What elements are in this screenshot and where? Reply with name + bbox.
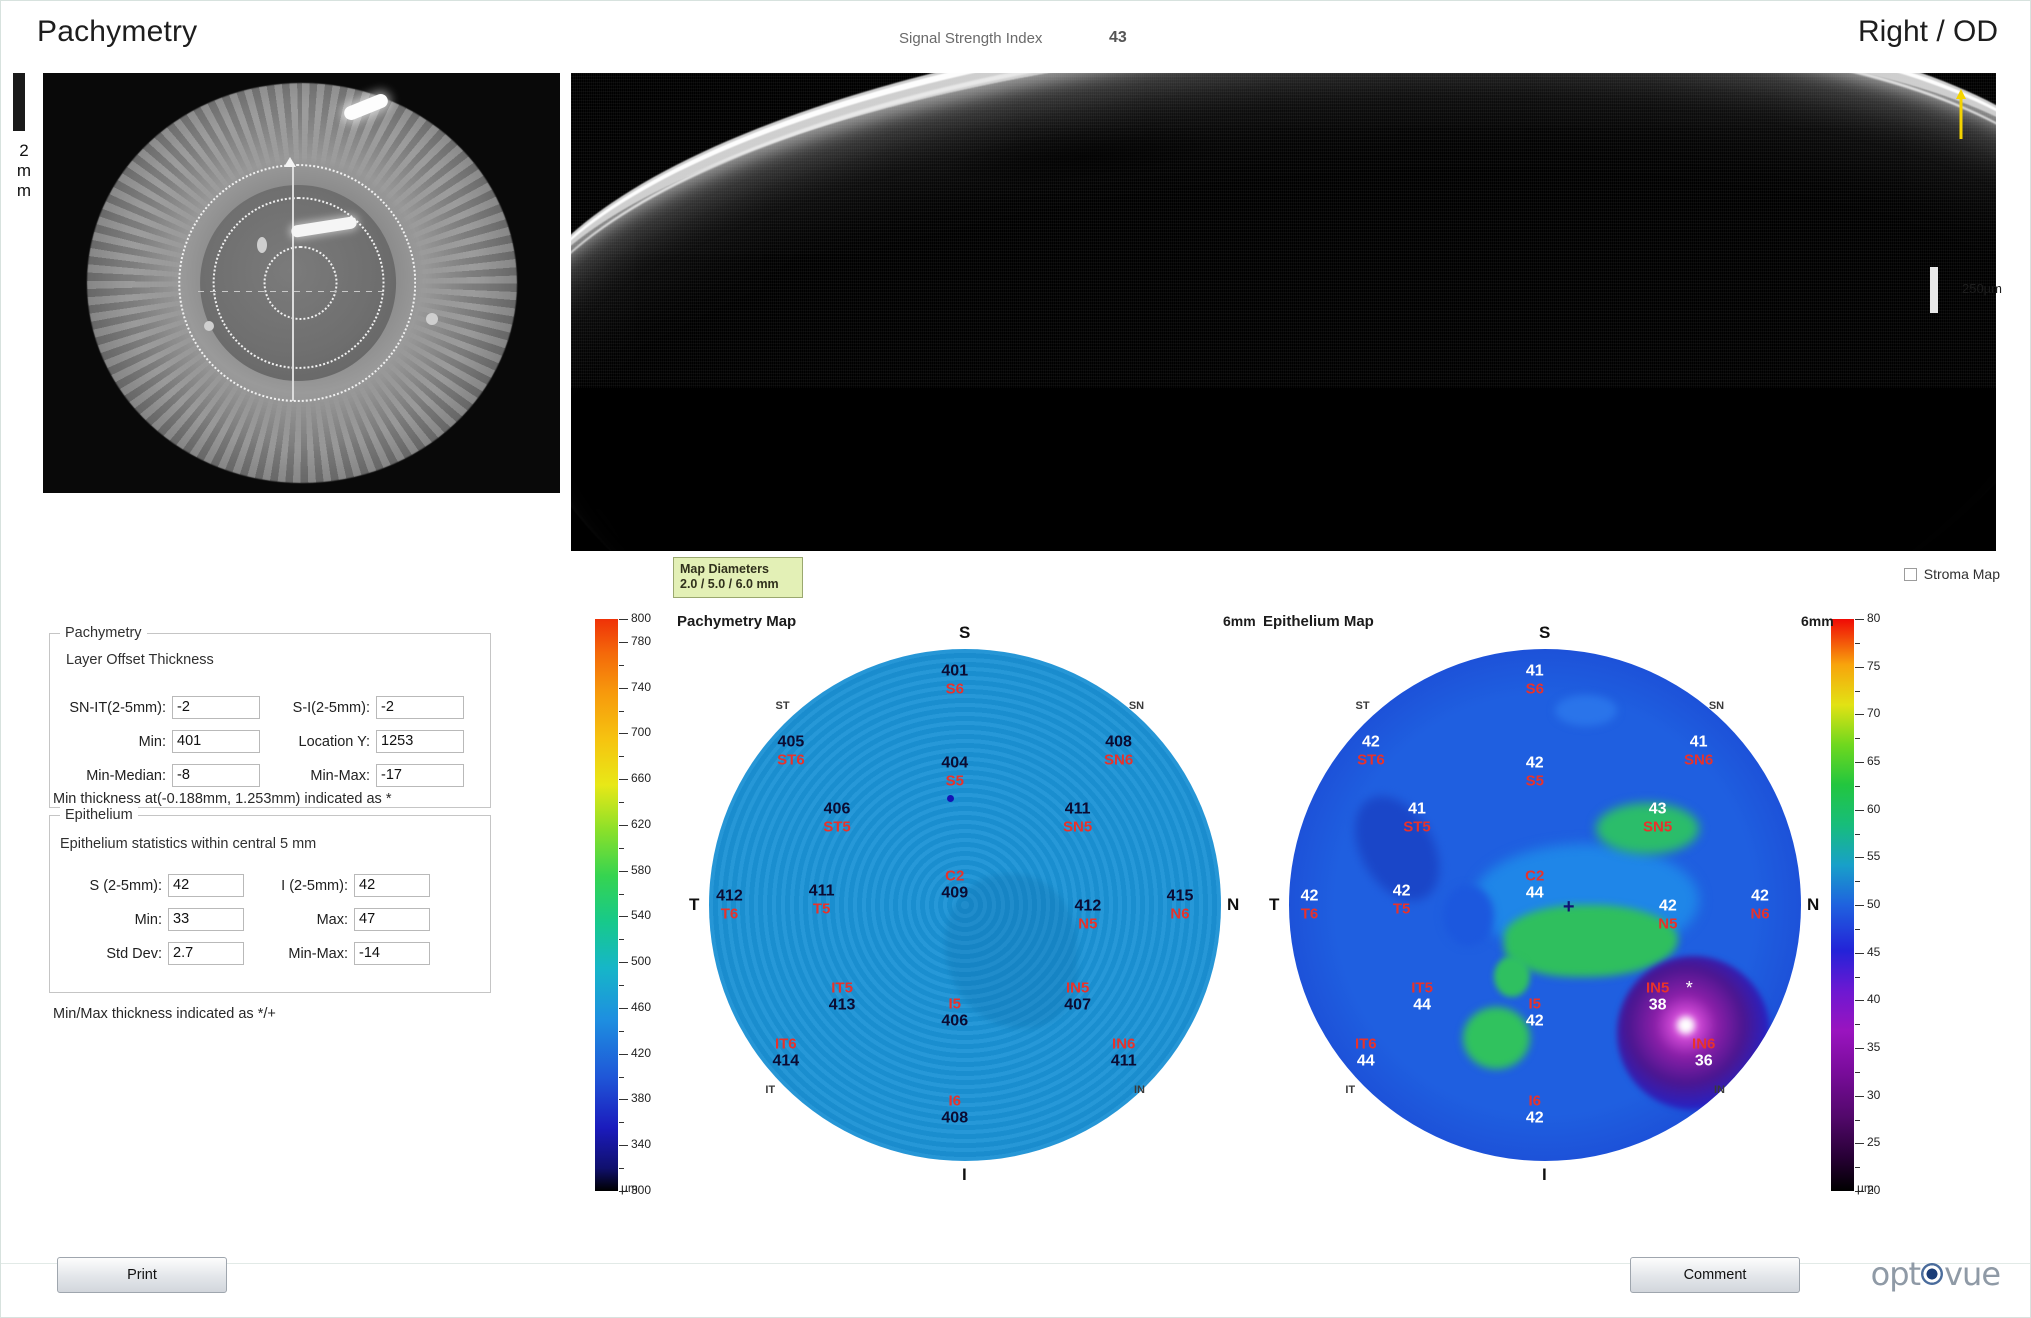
pachymetry-report-window: Pachymetry Signal Strength Index 43 Righ… (0, 0, 2031, 1318)
sector-thickness-value: 42 (1393, 882, 1411, 900)
orientation-label-st: ST (776, 700, 790, 712)
sector-value-i6: I6408 (941, 1092, 968, 1127)
orientation-label-n: N (1807, 895, 1819, 915)
pachymetry-colorbar-gradient (595, 619, 618, 1191)
epi-max-field[interactable]: 47 (354, 908, 430, 931)
colorbar-tick-label: 80 (1867, 611, 1880, 625)
sector-name-label: I6 (941, 1092, 968, 1109)
epi-min-field[interactable]: 33 (168, 908, 244, 931)
sector-name-label: IN5 (1646, 980, 1669, 997)
sector-name-label: SN5 (1643, 818, 1672, 835)
pachymetry-map[interactable]: 401S6405ST6408SN6404S5406ST5411SN5412T64… (701, 619, 1231, 1191)
pachy-min-field[interactable]: 401 (172, 730, 260, 753)
colorbar-tick-label: 700 (631, 725, 651, 739)
stroma-map-checkbox[interactable] (1904, 568, 1917, 581)
epi-patch-green-central (1504, 905, 1678, 977)
colorbar-tick-label: 30 (1867, 1088, 1880, 1102)
colorbar-tick (619, 665, 624, 666)
colorbar-tick (619, 1145, 628, 1146)
orientation-label-t: T (689, 895, 699, 915)
sector-value-n6: 415N6 (1167, 888, 1194, 923)
sector-thickness-value: 414 (772, 1053, 799, 1071)
sector-name-label: IT6 (772, 1036, 799, 1053)
sector-name-label: IN6 (1111, 1036, 1137, 1053)
sector-thickness-value: 41 (1403, 800, 1431, 818)
sector-value-t5: 42T5 (1393, 882, 1411, 917)
s-i-label: S-I(2-5mm): (278, 700, 370, 716)
colorbar-tick (619, 1054, 628, 1055)
colorbar-tick (1855, 1024, 1860, 1025)
colorbar-tick (1855, 1120, 1860, 1121)
sector-thickness-value: 43 (1643, 800, 1672, 818)
signal-strength-value: 43 (1109, 29, 1127, 47)
epithelium-colorbar-gradient (1831, 619, 1854, 1191)
sector-thickness-value: 411 (1063, 800, 1092, 818)
colorbar-tick-label: 55 (1867, 849, 1880, 863)
colorbar-tick (1855, 1072, 1860, 1073)
sector-value-sn6: 408SN6 (1104, 734, 1133, 769)
colorbar-tick (1855, 977, 1860, 978)
colorbar-tick-label: 25 (1867, 1135, 1880, 1149)
sector-value-sn5: 411SN5 (1063, 800, 1092, 835)
sector-name-label: T6 (716, 906, 743, 923)
sector-value-n6: 42N6 (1750, 888, 1769, 923)
orientation-label-n: N (1227, 895, 1239, 915)
colorbar-tick (619, 802, 624, 803)
signal-strength-label: Signal Strength Index (899, 30, 1042, 47)
sector-value-c2: C2409 (941, 867, 968, 902)
orientation-label-i: I (1542, 1165, 1547, 1185)
sector-value-it6: IT6414 (772, 1036, 799, 1071)
enface-scale-label: 2 m m (13, 141, 35, 201)
sector-thickness-value: 42 (1357, 734, 1385, 752)
sector-thickness-value: 36 (1692, 1053, 1715, 1071)
orientation-label-in: IN (1134, 1084, 1145, 1096)
pachymetry-min-marker (947, 795, 954, 802)
sector-value-in6: IN636 (1692, 1036, 1715, 1071)
orientation-label-it: IT (765, 1084, 775, 1096)
sector-thickness-value: 411 (809, 882, 835, 900)
sector-thickness-value: 42 (1750, 888, 1769, 906)
epithelium-min-marker: * (1686, 979, 1693, 997)
sector-value-it5: IT544 (1411, 980, 1433, 1015)
oct-scale-bar (1930, 267, 1938, 313)
colorbar-tick (1855, 619, 1864, 620)
comment-button[interactable]: Comment (1630, 1257, 1800, 1293)
sector-value-n5: 42N5 (1658, 898, 1677, 933)
colorbar-tick-label: 540 (631, 908, 651, 922)
sector-thickness-value: 415 (1167, 888, 1194, 906)
pachymetry-colorbar (595, 619, 618, 1191)
colorbar-tick-label: 340 (631, 1137, 651, 1151)
oct-up-arrow-icon (1954, 87, 1968, 141)
sector-value-t6: 412T6 (716, 888, 743, 923)
colorbar-tick (1855, 881, 1860, 882)
sector-thickness-value: 42 (1301, 888, 1319, 906)
epithelium-colorbar (1831, 619, 1854, 1191)
sector-name-label: C2 (1525, 867, 1544, 884)
enface-scale-bar (13, 73, 25, 131)
sector-name-label: N5 (1658, 916, 1677, 933)
colorbar-tick (1855, 643, 1860, 644)
epi-patch-green-small (1494, 956, 1530, 997)
sector-value-i5: I542 (1526, 995, 1544, 1030)
colorbar-tick (619, 619, 628, 620)
stroma-map-label: Stroma Map (1924, 566, 2000, 582)
sector-name-label: C2 (941, 867, 968, 884)
colorbar-tick (1855, 929, 1860, 930)
sector-name-label: SN6 (1104, 752, 1133, 769)
sector-thickness-value: 406 (823, 800, 851, 818)
sector-value-sn6: 41SN6 (1684, 734, 1713, 769)
epi-min-label: Min: (54, 912, 162, 928)
epithelium-panel-legend: Epithelium (60, 807, 138, 823)
sector-name-label: IN6 (1692, 1036, 1715, 1053)
colorbar-tick (619, 985, 624, 986)
oct-scale-label: 250µm (1962, 281, 2002, 296)
location-y-field[interactable]: 1253 (376, 730, 464, 753)
sector-value-i6: I642 (1526, 1092, 1544, 1127)
sector-thickness-value: 42 (1526, 1109, 1544, 1127)
sector-value-st6: 42ST6 (1357, 734, 1385, 769)
sector-value-st5: 406ST5 (823, 800, 851, 835)
colorbar-tick-label: 740 (631, 680, 651, 694)
map-diameters-title: Map Diameters (680, 562, 796, 577)
sector-name-label: ST6 (777, 752, 805, 769)
sector-thickness-value: 44 (1355, 1053, 1377, 1071)
sector-thickness-value: 405 (777, 734, 805, 752)
sector-thickness-value: 411 (1111, 1053, 1137, 1071)
orientation-label-s: S (1539, 623, 1550, 643)
logo-text-left: opt (1871, 1255, 1920, 1293)
sector-name-label: IN5 (1064, 980, 1091, 997)
sector-name-label: S5 (1526, 772, 1544, 789)
artifact-spot-3 (426, 313, 438, 325)
colorbar-tick (1855, 1048, 1864, 1049)
sector-value-s5: 404S5 (941, 754, 968, 789)
sector-value-sn5: 43SN5 (1643, 800, 1672, 835)
sector-name-label: I5 (941, 995, 968, 1012)
enface-iris-image[interactable] (43, 73, 560, 493)
colorbar-tick (1855, 691, 1860, 692)
colorbar-tick-label: 420 (631, 1046, 651, 1060)
colorbar-tick (619, 642, 628, 643)
colorbar-tick-label: 620 (631, 817, 651, 831)
colorbar-tick (619, 894, 624, 895)
colorbar-tick-label: 75 (1867, 659, 1880, 673)
epi-i-label: I (2-5mm): (262, 878, 348, 894)
sector-name-label: ST5 (823, 818, 851, 835)
oct-bscan-image[interactable] (571, 73, 1996, 551)
sector-thickness-value: 42 (1526, 1012, 1544, 1030)
pachy-min-max-field[interactable]: -17 (376, 764, 464, 787)
sector-name-label: SN5 (1063, 818, 1092, 835)
pachymetry-stats-panel: Pachymetry Layer Offset Thickness SN-IT(… (49, 633, 491, 808)
epithelium-map[interactable]: 41S642ST641SN642S541ST543SN542T642N642T5… (1281, 619, 1811, 1191)
colorbar-tick-label: 65 (1867, 754, 1880, 768)
orientation-label-in: IN (1714, 1084, 1725, 1096)
colorbar-tick (1855, 1000, 1864, 1001)
pachymetry-column-headers: Layer Offset Thickness (66, 652, 214, 668)
pachymetry-panel-legend: Pachymetry (60, 625, 147, 641)
sector-value-t5: 411T5 (809, 882, 835, 917)
colorbar-tick (619, 871, 628, 872)
colorbar-tick (1855, 714, 1864, 715)
sn-it-label: SN-IT(2-5mm): (54, 700, 166, 716)
colorbar-tick-label: 70 (1867, 706, 1880, 720)
colorbar-tick (1855, 738, 1860, 739)
sector-thickness-value: 404 (941, 754, 968, 772)
colorbar-tick (619, 1077, 624, 1078)
orientation-label-st: ST (1356, 700, 1370, 712)
colorbar-tick (619, 711, 624, 712)
logo-eye-icon (1921, 1263, 1943, 1285)
epithelium-subtitle: Epithelium statistics within central 5 m… (60, 836, 316, 852)
sector-name-label: T5 (809, 900, 835, 917)
sector-thickness-value: 412 (1075, 898, 1102, 916)
sector-name-label: SN6 (1684, 752, 1713, 769)
artifact-spot-1 (257, 237, 267, 253)
colorbar-tick (1855, 1096, 1864, 1097)
colorbar-tick (619, 1099, 628, 1100)
colorbar-tick-label: 460 (631, 1000, 651, 1014)
sector-value-n5: 412N5 (1075, 898, 1102, 933)
epi-s-label: S (2-5mm): (54, 878, 162, 894)
colorbar-tick (1855, 1143, 1864, 1144)
orientation-label-s: S (959, 623, 970, 643)
colorbar-tick (1855, 786, 1860, 787)
colorbar-tick (619, 779, 628, 780)
epi-patch-green-inferior (1463, 1007, 1530, 1068)
pachy-min-label: Min: (54, 734, 166, 750)
sector-thickness-value: 413 (829, 997, 856, 1015)
sector-thickness-value: 42 (1526, 754, 1544, 772)
map-diameters-value: 2.0 / 5.0 / 6.0 mm (680, 577, 796, 592)
location-y-label: Location Y: (278, 734, 370, 750)
sector-name-label: IT6 (1355, 1036, 1377, 1053)
sector-name-label: T5 (1393, 900, 1411, 917)
epi-min-max-label: Min-Max: (262, 946, 348, 962)
colorbar-tick (1855, 953, 1864, 954)
epi-patch-superior (1555, 695, 1616, 726)
sector-value-s6: 401S6 (941, 662, 968, 697)
sector-thickness-value: 409 (941, 884, 968, 902)
colorbar-tick-label: 35 (1867, 1040, 1880, 1054)
epi-i-field[interactable]: 42 (354, 874, 430, 897)
sector-thickness-value: 408 (1104, 734, 1133, 752)
colorbar-tick (619, 1122, 624, 1123)
sector-name-label: T6 (1301, 906, 1319, 923)
colorbar-tick (619, 825, 628, 826)
sector-thickness-value: 41 (1526, 662, 1544, 680)
artifact-spot-2 (204, 321, 214, 331)
sector-thickness-value: 44 (1525, 884, 1544, 902)
sector-value-c2: C244 (1525, 867, 1544, 902)
scan-axis-vertical (292, 165, 294, 400)
min-median-label: Min-Median: (54, 768, 166, 784)
sector-name-label: IT5 (829, 980, 856, 997)
sector-thickness-value: 38 (1646, 997, 1669, 1015)
sector-thickness-value: 401 (941, 662, 968, 680)
sector-name-label: I5 (1526, 995, 1544, 1012)
colorbar-tick (1855, 905, 1864, 906)
epi-patch-t5 (1443, 885, 1494, 946)
epi-max-label: Max: (262, 912, 348, 928)
sector-value-in5: IN538 (1646, 980, 1669, 1015)
scan-direction-arrow-icon (284, 157, 296, 167)
sector-value-t6: 42T6 (1301, 888, 1319, 923)
epi-min-max-field[interactable]: -14 (354, 942, 430, 965)
colorbar-tick (619, 939, 624, 940)
epi-stddev-label: Std Dev: (54, 946, 162, 962)
sector-value-st6: 405ST6 (777, 734, 805, 769)
sector-thickness-value: 407 (1064, 997, 1091, 1015)
colorbar-tick-label: 660 (631, 771, 651, 785)
colorbar-tick-label: 60 (1867, 802, 1880, 816)
sector-value-i5: I5406 (941, 995, 968, 1030)
map-diameters-badge[interactable]: Map Diameters 2.0 / 5.0 / 6.0 mm (673, 557, 803, 598)
colorbar-tick (619, 688, 628, 689)
sector-name-label: I6 (1526, 1092, 1544, 1109)
colorbar-tick (1855, 1167, 1860, 1168)
pachymetry-colorbar-unit: µm (621, 1181, 638, 1195)
sector-name-label: IT5 (1411, 980, 1433, 997)
orientation-label-it: IT (1345, 1084, 1355, 1096)
sector-thickness-value: 41 (1684, 734, 1713, 752)
min-median-field[interactable]: -8 (172, 764, 260, 787)
epithelium-stats-panel: Epithelium Epithelium statistics within … (49, 815, 491, 993)
colorbar-tick (1855, 857, 1864, 858)
print-button[interactable]: Print (57, 1257, 227, 1293)
colorbar-tick (1855, 667, 1864, 668)
sector-name-label: S5 (941, 772, 968, 789)
epithelium-colorbar-unit: µm (1857, 1181, 1874, 1195)
colorbar-tick (1855, 810, 1864, 811)
colorbar-tick (619, 962, 628, 963)
orientation-label-t: T (1269, 895, 1279, 915)
orientation-label-i: I (962, 1165, 967, 1185)
sector-value-s6: 41S6 (1526, 662, 1544, 697)
sector-thickness-value: 412 (716, 888, 743, 906)
sector-thickness-value: 406 (941, 1012, 968, 1030)
s-i-field[interactable]: -2 (376, 696, 464, 719)
pachy-min-max-label: Min-Max: (278, 768, 370, 784)
sector-thickness-value: 44 (1411, 997, 1433, 1015)
colorbar-tick (1855, 762, 1864, 763)
sector-name-label: S6 (1526, 680, 1544, 697)
sector-name-label: N5 (1075, 916, 1102, 933)
colorbar-tick-label: 800 (631, 611, 651, 625)
epi-stddev-field[interactable]: 2.7 (168, 942, 244, 965)
epi-s-field[interactable]: 42 (168, 874, 244, 897)
colorbar-tick-label: 500 (631, 954, 651, 968)
orientation-label-sn: SN (1709, 700, 1724, 712)
sector-thickness-value: 408 (941, 1109, 968, 1127)
map-ring-6mm (178, 164, 416, 402)
sn-it-field[interactable]: -2 (172, 696, 260, 719)
colorbar-tick-label: 50 (1867, 897, 1880, 911)
colorbar-tick (619, 1168, 624, 1169)
colorbar-tick (619, 756, 624, 757)
colorbar-tick (619, 1031, 624, 1032)
sector-value-st5: 41ST5 (1403, 800, 1431, 835)
colorbar-tick (619, 733, 628, 734)
page-title: Pachymetry (37, 15, 197, 49)
optovue-logo: opt vue (1871, 1255, 2000, 1293)
colorbar-tick (619, 848, 624, 849)
sector-name-label: S6 (941, 680, 968, 697)
sector-name-label: N6 (1750, 906, 1769, 923)
epi-patch-thin-inferonasal (1617, 956, 1771, 1110)
epithelium-minmax-note: Min/Max thickness indicated as */+ (53, 1006, 276, 1022)
sector-thickness-value: 42 (1658, 898, 1677, 916)
stroma-map-toggle[interactable]: Stroma Map (1904, 566, 2000, 582)
sector-value-it6: IT644 (1355, 1036, 1377, 1071)
colorbar-tick (1855, 834, 1860, 835)
colorbar-tick-label: 780 (631, 634, 651, 648)
orientation-label-sn: SN (1129, 700, 1144, 712)
eye-laterality-label: Right / OD (1858, 15, 1998, 49)
scan-axis-horizontal (198, 291, 384, 292)
epithelium-max-marker: + (1563, 897, 1575, 917)
sector-value-it5: IT5413 (829, 980, 856, 1015)
sector-name-label: ST5 (1403, 818, 1431, 835)
sector-value-in6: IN6411 (1111, 1036, 1137, 1071)
sector-value-in5: IN5407 (1064, 980, 1091, 1015)
logo-text-right: vue (1944, 1255, 2000, 1293)
colorbar-tick (619, 916, 628, 917)
colorbar-tick (619, 1008, 628, 1009)
sector-value-s5: 42S5 (1526, 754, 1544, 789)
pachymetry-min-thickness-note: Min thickness at(-0.188mm, 1.253mm) indi… (53, 791, 391, 807)
sector-name-label: N6 (1167, 906, 1194, 923)
colorbar-tick-label: 45 (1867, 945, 1880, 959)
colorbar-tick-label: 380 (631, 1091, 651, 1105)
colorbar-tick-label: 580 (631, 863, 651, 877)
corneal-endothelium-layer (571, 73, 1996, 551)
sector-name-label: ST6 (1357, 752, 1385, 769)
colorbar-tick-label: 40 (1867, 992, 1880, 1006)
